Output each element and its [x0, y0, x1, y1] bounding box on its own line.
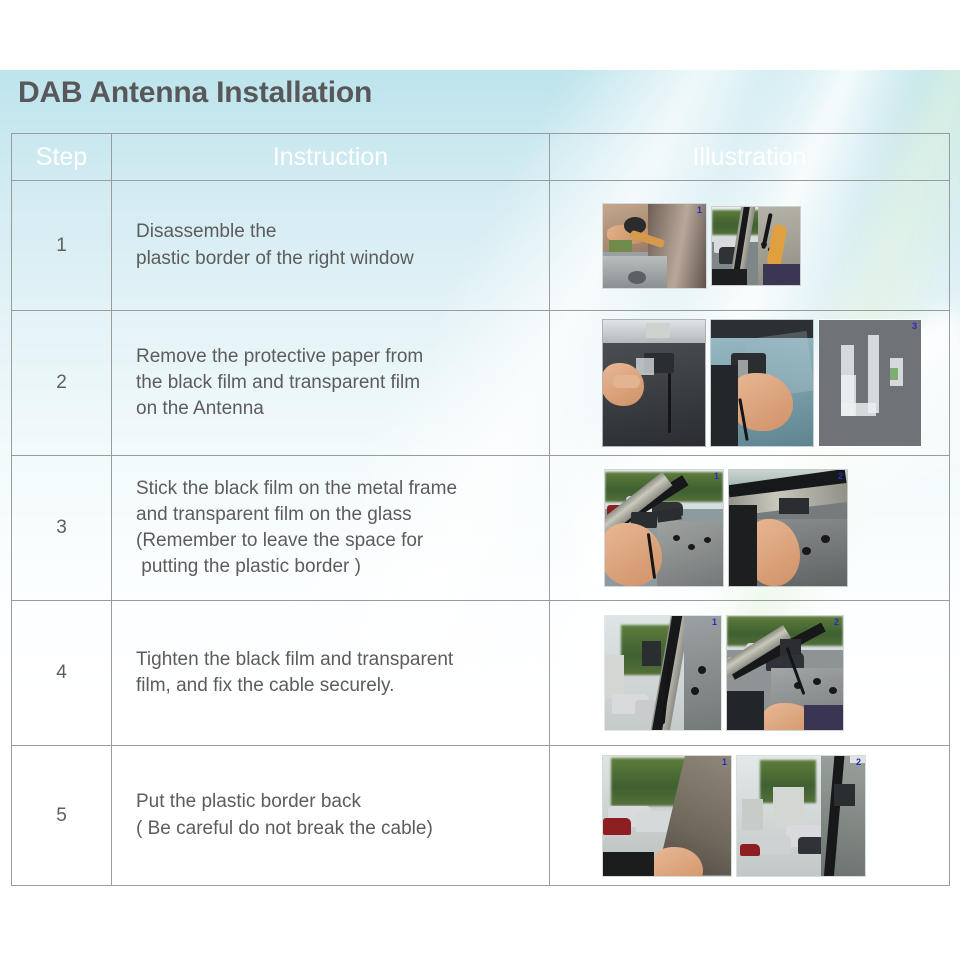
photo-badge: 3 [912, 322, 917, 331]
illustration-cell: 1 [550, 181, 950, 311]
instruction-line: (Remember to leave the space for [136, 528, 539, 554]
instruction-line: Put the plastic border back [136, 789, 539, 815]
illustration-cell: 1 [550, 601, 950, 746]
instruction-cell: Put the plastic border back ( Be careful… [112, 746, 550, 886]
illustration-cell: 1 [550, 456, 950, 601]
column-header-step: Step [12, 134, 112, 181]
photo-peeling-paper-from-antenna [602, 319, 706, 447]
photo-antenna-films-on-dark-background: 3 [818, 319, 922, 447]
thumbnail-strip: 1 [550, 469, 949, 587]
photo-badge: 1 [722, 758, 727, 767]
instruction-line: Stick the black film on the metal frame [136, 476, 539, 502]
step-number-cell: 4 [12, 601, 112, 746]
step-number-cell: 1 [12, 181, 112, 311]
illustration-cell: 3 [550, 311, 950, 456]
photo-cable-routed-along-frame: 2 [726, 615, 844, 731]
photo-badge: 2 [838, 472, 843, 481]
step-number-cell: 2 [12, 311, 112, 456]
table-header: Step Instruction Illustration [12, 134, 950, 181]
photo-pressing-film-onto-frame: 2 [728, 469, 848, 587]
photo-hand-prying-plastic-border: 1 [602, 203, 707, 289]
page-title: DAB Antenna Installation [18, 76, 372, 110]
instruction-line: plastic border of the right window [136, 246, 539, 272]
table-row: 1 Disassemble the plastic border of the … [12, 181, 950, 311]
thumbnail-strip: 1 [550, 615, 949, 731]
photo-badge: 1 [697, 206, 702, 215]
table-row: 5 Put the plastic border back ( Be caref… [12, 746, 950, 886]
column-header-instruction: Instruction [112, 134, 550, 181]
photo-badge: 1 [714, 472, 719, 481]
photo-refitting-plastic-border: 1 [602, 755, 732, 877]
photo-sticking-black-film-on-metal-frame: 1 [604, 469, 724, 587]
instruction-cell: Stick the black film on the metal frame … [112, 456, 550, 601]
photo-antenna-in-hand-at-windshield [710, 319, 814, 447]
photo-badge: 2 [834, 618, 839, 627]
thumbnail-strip: 1 [550, 203, 949, 289]
instruction-cell: Disassemble the plastic border of the ri… [112, 181, 550, 311]
step-number-cell: 5 [12, 746, 112, 886]
thumbnail-strip: 3 [550, 319, 949, 447]
photo-badge: 1 [712, 618, 717, 627]
table-header-row: Step Instruction Illustration [12, 134, 950, 181]
installation-steps-table: Step Instruction Illustration 1 Disassem… [11, 133, 950, 886]
instruction-line: Tighten the black film and transparent [136, 647, 539, 673]
photo-badge: 2 [856, 758, 861, 767]
instruction-line: Remove the protective paper from [136, 344, 539, 370]
instruction-cell: Remove the protective paper from the bla… [112, 311, 550, 456]
instruction-line: ( Be careful do not break the cable) [136, 816, 539, 842]
illustration-cell: 1 2 [550, 746, 950, 886]
table-row: 2 Remove the protective paper from the b… [12, 311, 950, 456]
table-body: 1 Disassemble the plastic border of the … [12, 181, 950, 886]
instruction-cell: Tighten the black film and transparent f… [112, 601, 550, 746]
instruction-line: film, and fix the cable securely. [136, 673, 539, 699]
table-row: 4 Tighten the black film and transparent… [12, 601, 950, 746]
thumbnail-strip: 1 2 [550, 755, 949, 877]
column-header-illustration: Illustration [550, 134, 950, 181]
installation-guide-page: DAB Antenna Installation Step Instructio… [0, 0, 960, 960]
instruction-line: putting the plastic border ) [136, 554, 539, 580]
photo-door-frame-with-tool [711, 206, 801, 286]
instruction-line: and transparent film on the glass [136, 502, 539, 528]
table-row: 3 Stick the black film on the metal fram… [12, 456, 950, 601]
instruction-line: the black film and transparent film [136, 370, 539, 396]
instruction-line: Disassemble the [136, 219, 539, 245]
photo-tightened-film-on-window-pillar: 1 [604, 615, 722, 731]
photo-plastic-border-installed: 2 [736, 755, 866, 877]
step-number-cell: 3 [12, 456, 112, 601]
instruction-line: on the Antenna [136, 396, 539, 422]
